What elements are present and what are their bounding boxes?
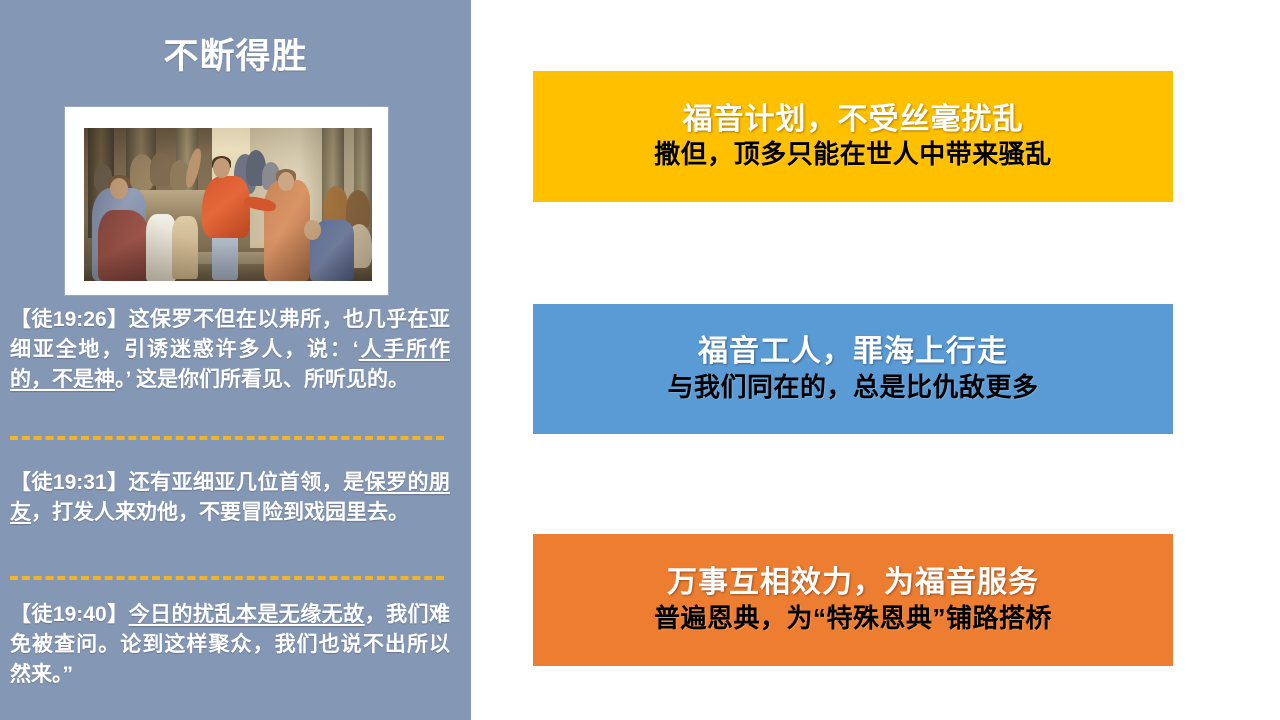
point-box-all-things-work-together: 万事互相效力，为福音服务 普遍恩典，为“特殊恩典”铺路搭桥 (533, 534, 1173, 666)
point-box-1-heading: 福音计划，不受丝毫扰乱 (683, 101, 1024, 139)
point-box-gospel-plan: 福音计划，不受丝毫扰乱 撒但，顶多只能在世人中带来骚乱 (533, 71, 1173, 202)
preaching-of-saint-paul-at-ephesus-painting (84, 128, 372, 281)
scripture-verse-2: 【徒19:31】还有亚细亚几位首领，是保罗的朋友，打发人来劝他，不要冒险到戏园里… (10, 468, 450, 528)
point-box-3-heading: 万事互相效力，为福音服务 (667, 564, 1039, 602)
scripture-ref-1: 【徒19:26】 (10, 308, 129, 331)
point-box-2-subheading: 与我们同在的，总是比仇敌更多 (667, 371, 1038, 405)
point-box-3-subheading: 普遍恩典，为“特殊恩典”铺路搭桥 (654, 602, 1052, 636)
scripture-verse-3: 【徒19:40】今日的扰乱本是无缘无故，我们难免被查问。论到这样聚众，我们也说不… (10, 600, 450, 689)
picture-frame (64, 106, 389, 296)
point-box-1-subheading: 撒但，顶多只能在世人中带来骚乱 (654, 138, 1052, 172)
scripture-seg-1c: 。’ 这是你们所看见、所听见的。 (115, 368, 409, 391)
point-box-2-heading: 福音工人，罪海上行走 (698, 333, 1008, 371)
page-title: 不断得胜 (0, 38, 471, 77)
presentation-slide: 不断得胜 (0, 0, 1280, 720)
scripture-seg-2c: ，打发人来劝他，不要冒险到戏园里去。 (31, 501, 409, 524)
scripture-verse-1: 【徒19:26】这保罗不但在以弗所，也几乎在亚细亚全地，引诱迷惑许多人，说：‘人… (10, 305, 450, 394)
section-divider-2 (10, 576, 444, 580)
scripture-ref-2: 【徒19:31】 (10, 471, 129, 494)
point-box-gospel-workers: 福音工人，罪海上行走 与我们同在的，总是比仇敌更多 (533, 304, 1173, 434)
scripture-seg-2a: 还有亚细亚几位首领，是 (129, 471, 365, 494)
section-divider-1 (10, 436, 444, 440)
scripture-seg-3b-underlined: 今日的扰乱本是无缘无故 (129, 603, 365, 626)
scripture-ref-3: 【徒19:40】 (10, 603, 129, 626)
left-panel: 不断得胜 (0, 0, 471, 720)
